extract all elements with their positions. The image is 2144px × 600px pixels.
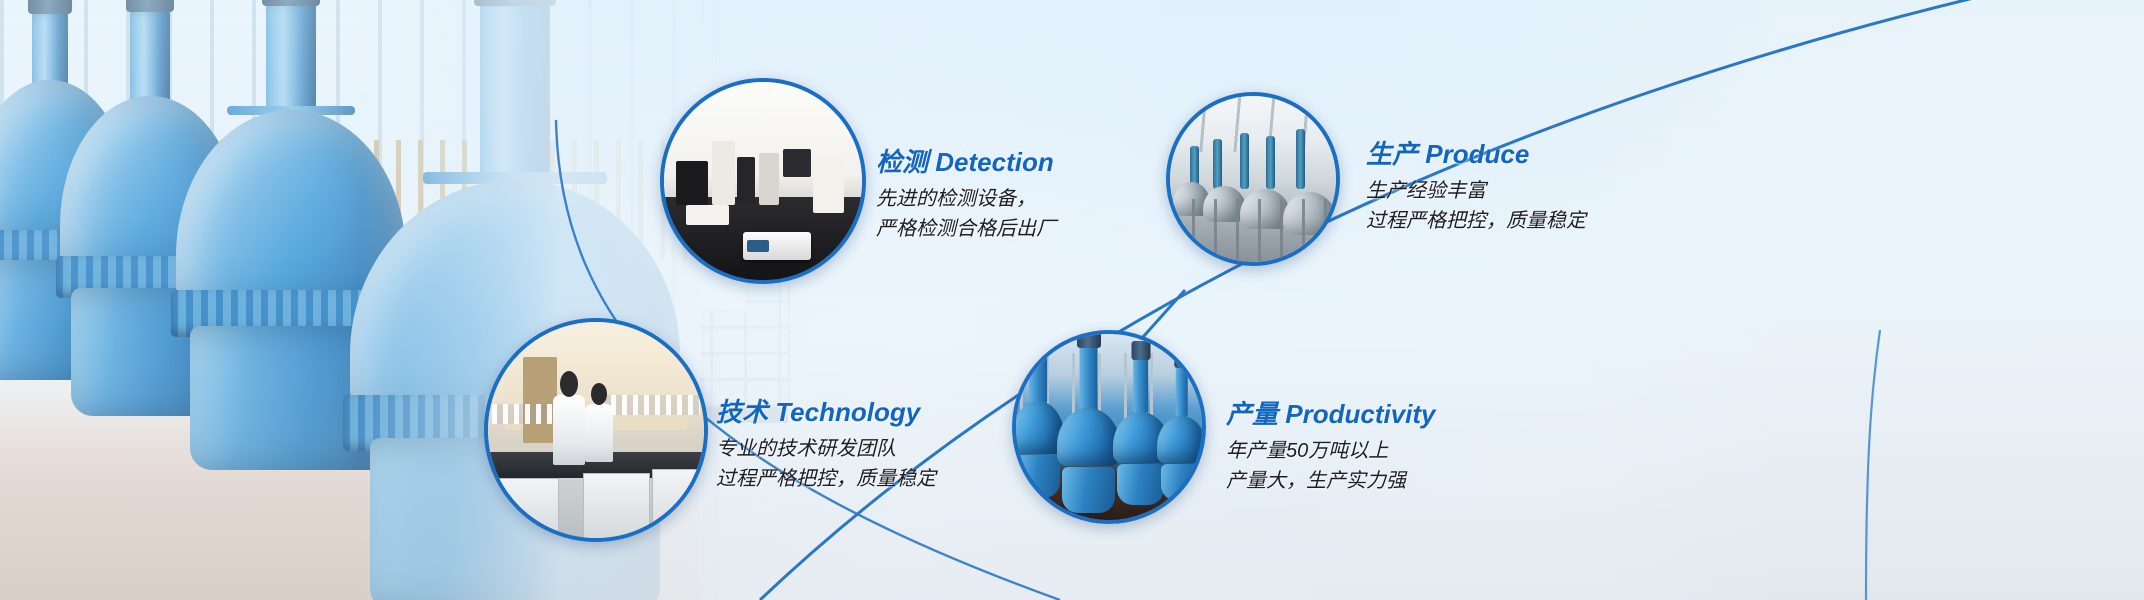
- technology-heading: 技术 Technology: [716, 398, 936, 427]
- detection-title-en: Detection: [935, 147, 1053, 177]
- technology-photo: [484, 318, 708, 542]
- productivity-line-1: 年产量50万吨以上: [1226, 436, 1436, 466]
- detection-heading: 检测 Detection: [876, 148, 1056, 177]
- produce-line-2: 过程严格把控，质量稳定: [1366, 206, 1586, 236]
- productivity-line-2: 产量大，生产实力强: [1226, 466, 1436, 496]
- produce-photo: [1166, 92, 1340, 266]
- right-flow-arc: [1866, 330, 1880, 600]
- produce-heading: 生产 Produce: [1366, 140, 1586, 169]
- produce-title-en: Produce: [1425, 139, 1529, 169]
- technology-text-block: 技术 Technology 专业的技术研发团队 过程严格把控，质量稳定: [716, 398, 936, 494]
- technology-title-en: Technology: [775, 397, 920, 427]
- produce-text-block: 生产 Produce 生产经验丰富 过程严格把控，质量稳定: [1366, 140, 1586, 236]
- productivity-photo: [1012, 330, 1206, 524]
- detection-title-cn: 检测: [876, 147, 928, 177]
- main-flow-arc: [760, 0, 2144, 600]
- detection-text-block: 检测 Detection 先进的检测设备， 严格检测合格后出厂: [876, 148, 1056, 244]
- produce-title-cn: 生产: [1366, 139, 1418, 169]
- productivity-text-block: 产量 Productivity 年产量50万吨以上 产量大，生产实力强: [1226, 400, 1436, 496]
- detection-photo: [660, 78, 866, 284]
- company-strength-banner: 检测 Detection 先进的检测设备， 严格检测合格后出厂: [0, 0, 2144, 600]
- technology-title-cn: 技术: [716, 397, 768, 427]
- productivity-title-en: Productivity: [1285, 399, 1435, 429]
- productivity-title-cn: 产量: [1226, 399, 1278, 429]
- technology-line-2: 过程严格把控，质量稳定: [716, 464, 936, 494]
- produce-line-1: 生产经验丰富: [1366, 176, 1586, 206]
- detection-line-1: 先进的检测设备，: [876, 184, 1056, 214]
- productivity-heading: 产量 Productivity: [1226, 400, 1436, 429]
- technology-line-1: 专业的技术研发团队: [716, 434, 936, 464]
- detection-line-2: 严格检测合格后出厂: [876, 214, 1056, 244]
